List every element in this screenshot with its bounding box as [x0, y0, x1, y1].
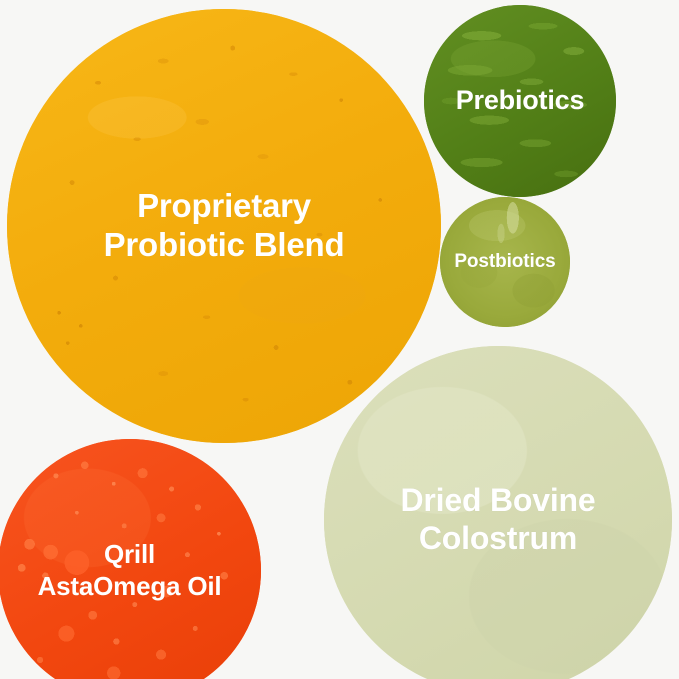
bubble-label-probiotic: Proprietary Probiotic Blend — [104, 187, 345, 265]
bubble-label-postbiotics: Postbiotics — [454, 251, 555, 273]
bubble-label-qrill: Qrill AstaOmega Oil — [38, 539, 222, 602]
bubble-prebiotics[interactable]: Prebiotics — [424, 5, 616, 197]
bubble-label-prebiotics: Prebiotics — [456, 85, 585, 117]
bubble-label-colostrum: Dried Bovine Colostrum — [401, 482, 596, 558]
bubble-qrill-astaomega-oil[interactable]: Qrill AstaOmega Oil — [0, 439, 261, 679]
bubble-postbiotics[interactable]: Postbiotics — [440, 197, 570, 327]
bubble-dried-bovine-colostrum[interactable]: Dried Bovine Colostrum — [324, 346, 672, 679]
bubble-proprietary-probiotic-blend[interactable]: Proprietary Probiotic Blend — [7, 9, 441, 443]
ingredient-bubble-diagram: Proprietary Probiotic Blend Prebiotics P… — [0, 0, 679, 679]
